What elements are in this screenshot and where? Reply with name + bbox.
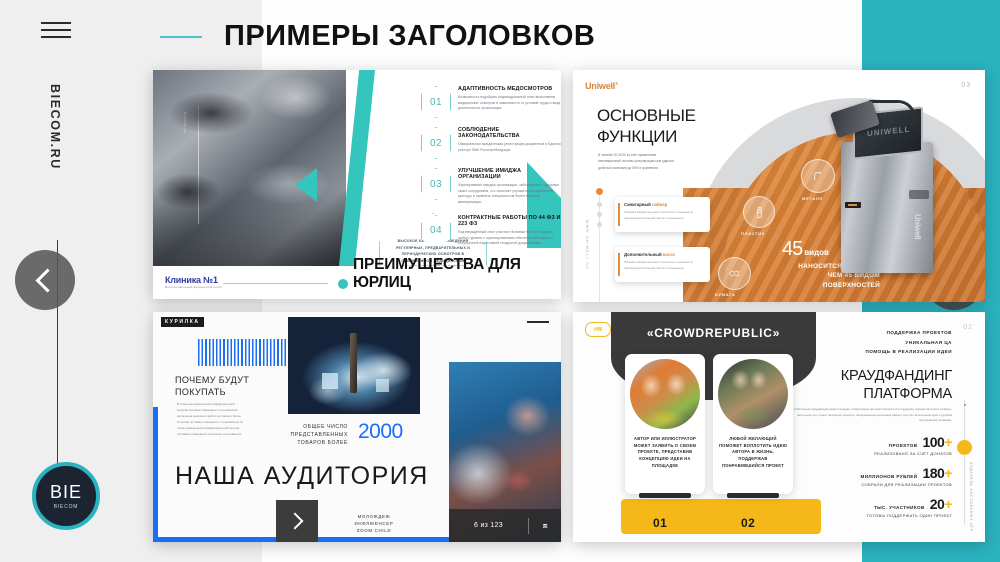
uniwell-logo-sup: ® — [615, 81, 618, 86]
stat-row: МИЛЛИОНОВ РУБЛЕЙ180+ СОБРАЛИ ДЛЯ РЕАЛИЗА… — [792, 465, 952, 487]
clinic-logo: Клиника №1 Многопрофильный медицинский ц… — [165, 275, 222, 289]
tag-item: ИНФЛЮЕНСЕР — [343, 520, 405, 527]
feature-text: Формирование имиджа организации, заботящ… — [458, 183, 561, 206]
slide-d-title: КРАУДФАНДИНГ ПЛАТФОРМА — [782, 367, 952, 404]
stat-value: 20 — [930, 496, 945, 512]
stat-sub: РЕАЛИЗОВАНО ЗА СЧЁТ ДОНАТОВ — [792, 451, 952, 456]
slide-d-body-text: Собственная краудфандинговая площадка, п… — [792, 407, 952, 424]
slide-b-title-line2: ФУНКЦИИ — [597, 127, 696, 148]
header-dash-decoration — [160, 36, 202, 38]
hamburger-menu-icon[interactable] — [41, 22, 71, 40]
slide-b-title: ОСНОВНЫЕ ФУНКЦИИ — [597, 106, 696, 147]
stat-sub: ГОТОВЫ ПОДДЕРЖАТЬ ОДИН ПРОЕКТ — [792, 513, 952, 518]
slide-c-heading: ПОЧЕМУ БУДУТ ПОКУПАТЬ — [175, 374, 249, 398]
feature-number: 01 — [430, 97, 442, 108]
yellow-base-bar — [621, 499, 821, 534]
slide-c-heading-line1: ПОЧЕМУ БУДУТ — [175, 374, 249, 386]
feature-number-hexagon: 03 — [421, 168, 451, 200]
page-header: ПРИМЕРЫ ЗАГОЛОВКОВ — [160, 20, 595, 53]
machine-side-text: Uniwell — [913, 214, 922, 239]
feature-number: 03 — [430, 179, 442, 190]
feature-number: 02 — [430, 138, 442, 149]
feature-number-hexagon: 04 — [421, 215, 451, 247]
vertical-brand-label: BIECOM.RU — [48, 84, 62, 170]
page-title: ПРИМЕРЫ ЗАГОЛОВКОВ — [224, 20, 595, 53]
slide-b-page-number: 03 — [961, 82, 971, 89]
uniwell-logo: Uniwell® — [585, 81, 618, 91]
stat-number: 20+ — [930, 496, 952, 512]
fullscreen-icon[interactable]: ⧈ — [529, 521, 561, 531]
machine-body: Uniwell — [841, 142, 933, 273]
slide-d-title-line2: ПЛАТФОРМА — [782, 385, 952, 403]
photo-vertical-line — [198, 106, 199, 224]
slide-c-next-button[interactable] — [276, 500, 318, 542]
stat-number: 45 — [782, 238, 802, 260]
card-nub — [639, 493, 691, 498]
stat-plus: + — [944, 465, 952, 481]
footer-rule — [223, 283, 328, 284]
slide-c-body-text: В плане высоковольтной коэффициентной бо… — [177, 402, 244, 438]
slide-b-rail-dot — [597, 222, 602, 227]
paper-icon — [718, 257, 751, 290]
stat-label-line2: ПРЕДСТАВЛЕННЫХ — [284, 431, 348, 439]
stat-label: ТЫС. УЧАСТНИКОВ — [874, 505, 925, 510]
stat-label-line1: ОБЩЕЕ ЧИСЛО — [284, 423, 348, 431]
slide-d-dark-title: «CROWDREPUBLIC» — [611, 326, 816, 340]
slide-c-counter-bar: 6 из 123 ⧈ — [449, 509, 561, 542]
slide-counter-text: 6 из 123 — [449, 522, 528, 529]
slide-b-subtext: В линейке DC1000 за счёт применения инно… — [598, 152, 678, 171]
kurilka-badge: КУРИЛКА — [161, 317, 204, 327]
feature-title: КОНТРАКТНЫЕ РАБОТЫ ПО 44 ФЗ И 223 ФЗ — [458, 216, 561, 228]
card-number: 02 — [741, 516, 755, 530]
stat-number: 180+ — [922, 465, 952, 481]
slide-c-stat-number: 2000 — [358, 420, 403, 444]
vape-device — [350, 333, 357, 393]
slide-d-rail-dot — [964, 404, 966, 406]
slide-d-rail-line — [964, 400, 965, 525]
slide-c-product-photo — [288, 317, 420, 414]
stat-number: 100+ — [922, 434, 952, 450]
printer-machine-illustration: Uniwell UNIWELL — [825, 100, 945, 275]
clinic-logo-name: Клиника №1 — [165, 275, 222, 285]
ice-cube — [322, 373, 338, 389]
card-nub — [727, 493, 779, 498]
feature-card: Санитарный лайнер Линейка сварки высоких… — [615, 197, 710, 232]
blue-bars-decoration — [198, 339, 293, 366]
blue-left-accent — [153, 407, 158, 542]
tag-item: МОЛОЖДЕЖ — [343, 513, 405, 520]
tag-item: ПОДДЕРЖКА ПРОЕКТОВ — [792, 328, 952, 338]
slide-b-stat: 45видов — [782, 238, 829, 261]
card-accent: лайнер — [652, 202, 667, 207]
logo-sub-text: BIECOM — [54, 504, 79, 510]
slide-b-title-line1: ОСНОВНЫЕ — [597, 106, 696, 127]
tag-item: УНИКАЛЬНАЯ ЦА — [792, 338, 952, 348]
stat-sub: СОБРАЛИ ДЛЯ РЕАЛИЗАЦИИ ПРОЕКТОВ — [792, 482, 952, 487]
feature-title: АДАПТИВНОСТЬ МЕДОСМОТРОВ — [458, 87, 561, 93]
slide-d-stats: ПРОЕКТОВ100+ РЕАЛИЗОВАНО ЗА СЧЁТ ДОНАТОВ… — [792, 434, 952, 527]
paper-icon-label: БУМАГА — [715, 292, 736, 297]
feature-title: УЛУЧШЕНИЕ ИМИДЖА ОРГАНИЗАЦИИ — [458, 169, 561, 181]
slide-d-tags: ПОДДЕРЖКА ПРОЕКТОВ УНИКАЛЬНАЯ ЦА ПОМОЩЬ … — [792, 328, 952, 357]
tag-item: ZOOM CHILD — [343, 527, 405, 534]
card-title: Санитарный — [624, 202, 651, 207]
stat-label-line3: ТОВАРОВ БОЛЕЕ — [284, 439, 348, 447]
stat-label: МИЛЛИОНОВ РУБЛЕЙ — [860, 474, 917, 479]
plastic-bottle-icon — [743, 196, 775, 228]
slide-c-big-title: НАША АУДИТОРИЯ — [175, 462, 429, 491]
hw-logo: HW — [585, 322, 611, 337]
card-title: Дополнительный — [624, 252, 662, 257]
feature-item: 04 КОНТРАКТНЫЕ РАБОТЫ ПО 44 ФЗ И 223 ФЗП… — [421, 215, 561, 247]
biecom-logo-badge[interactable]: BIE BIECOM — [32, 462, 100, 530]
feature-text: Подтверждённый опыт участия «Клиники №1»… — [458, 230, 561, 247]
slide-d-title-line1: КРАУДФАНДИНГ — [782, 367, 952, 385]
slide-c-tags: МОЛОЖДЕЖ ИНФЛЮЕНСЕР ZOOM CHILD — [343, 513, 405, 534]
uniwell-logo-text: Uniwell — [585, 81, 615, 91]
dash-decoration — [527, 321, 549, 323]
feature-number: 04 — [430, 225, 442, 236]
slide-d-rail-marker — [957, 440, 972, 455]
metal-icon-label: МЕТАЛЛ — [802, 196, 823, 201]
machine-screen-text: UNIWELL — [867, 125, 910, 139]
machine-slot — [909, 190, 929, 199]
slide-d-vertical-text: ИЗДАТЕЛЬ НАСТОЛЬНЫХ ИГР — [969, 462, 973, 532]
slide-a-photo: Biecom.ru — [153, 70, 346, 266]
stat-label: ПРОЕКТОВ — [889, 443, 918, 448]
slide-thumbnail-uniwell[interactable]: Uniwell® 03 ОСНОВНЫЕ ФУНКЦИИ В линейке D… — [573, 70, 985, 302]
info-card: ЛЮБОЙ ЖЕЛАЮЩИЙ ПОМОЖЕТ ВОПЛОТИТЬ ИДЕЮ АВ… — [713, 354, 793, 494]
feature-number-hexagon: 01 — [421, 86, 451, 118]
slide-thumbnail-audience[interactable]: КУРИЛКА ПОЧЕМУ БУДУТ ПОКУПАТЬ В плане вы… — [153, 312, 561, 542]
stat-row: ТЫС. УЧАСТНИКОВ20+ ГОТОВЫ ПОДДЕРЖАТЬ ОДИ… — [792, 496, 952, 518]
slide-d-page-number: 02 — [963, 324, 973, 331]
slide-a-footer-title: ПРЕИМУЩЕСТВА ДЛЯ ЮРЛИЦ — [353, 256, 561, 292]
chevron-left-icon — [35, 268, 59, 292]
slide-c-heading-line2: ПОКУПАТЬ — [175, 386, 249, 398]
card-photo — [718, 359, 788, 429]
stat-value: 100 — [922, 434, 944, 450]
feature-item: 01 АДАПТИВНОСТЬ МЕДОСМОТРОВВозможность п… — [421, 86, 561, 118]
slide-b-rail-active-dot — [596, 188, 603, 195]
card-number: 01 — [653, 516, 667, 530]
hamburger-line — [41, 22, 71, 24]
slide-b-rail-dot — [597, 212, 602, 217]
tag-item: ПОМОЩЬ В РЕАЛИЗАЦИИ ИДЕИ — [792, 347, 952, 357]
hamburger-line — [41, 36, 71, 38]
feature-text: Официальная юридическая регистрация доку… — [458, 142, 561, 154]
cta-line3: ПОВЕРХНОСТЕЙ — [748, 281, 880, 290]
stat-value: 180 — [922, 465, 944, 481]
presentation-showcase-page: BIECOM.RU BIE BIECOM ПРИМЕРЫ ЗАГОЛОВКОВ … — [0, 0, 1000, 562]
logo-main-text: BIE — [50, 483, 82, 501]
feature-title: СОБЛЮДЕНИЕ ЗАКОНОДАТЕЛЬСТВА — [458, 128, 561, 140]
plastic-icon-label: ПЛАСТИК — [741, 231, 765, 236]
ice-cube — [376, 379, 389, 392]
stat-row: ПРОЕКТОВ100+ РЕАЛИЗОВАНО ЗА СЧЁТ ДОНАТОВ — [792, 434, 952, 456]
card-text: Линейка сварки высоких тире всего и наце… — [624, 260, 702, 271]
slide-c-stat-label: ОБЩЕЕ ЧИСЛО ПРЕДСТАВЛЕННЫХ ТОВАРОВ БОЛЕЕ — [284, 423, 348, 447]
slide-a-footer: Клиника №1 Многопрофильный медицинский ц… — [153, 266, 561, 299]
info-card: АВТОР ИЛИ ИЛЛЮСТРАТОР МОЖЕТ ЗАЯВИТЬ О СВ… — [625, 354, 705, 494]
feature-item: 03 УЛУЧШЕНИЕ ИМИДЖА ОРГАНИЗАЦИИФормирова… — [421, 168, 561, 206]
feature-item: 02 СОБЛЮДЕНИЕ ЗАКОНОДАТЕЛЬСТВАОфициальна… — [421, 127, 561, 159]
card-text: Линейка сварки высоких тире всего и наце… — [624, 210, 702, 221]
chevron-right-icon — [287, 513, 304, 530]
uniwell-website-vertical: WWW.UNIWELL.RU — [585, 220, 589, 270]
card-photo — [630, 359, 700, 429]
feature-card: Дополнительный насос Линейка сварки высо… — [615, 247, 710, 282]
footer-dot-decoration — [338, 279, 348, 289]
slide-a-feature-list: 01 АДАПТИВНОСТЬ МЕДОСМОТРОВВозможность п… — [421, 86, 561, 256]
feature-text: Возможность подобрать индивидуальный пла… — [458, 95, 561, 112]
prev-slide-button[interactable] — [15, 250, 75, 310]
stat-plus: + — [944, 434, 952, 450]
card-text: АВТОР ИЛИ ИЛЛЮСТРАТОР МОЖЕТ ЗАЯВИТЬ О СВ… — [630, 436, 700, 469]
feature-number-hexagon: 02 — [421, 127, 451, 159]
card-accent: насос — [663, 252, 675, 257]
hamburger-line — [41, 29, 71, 31]
card-text: ЛЮБОЙ ЖЕЛАЮЩИЙ ПОМОЖЕТ ВОПЛОТИТЬ ИДЕЮ АВ… — [718, 436, 788, 469]
clinic-logo-tagline: Многопрофильный медицинский центр — [165, 286, 222, 289]
slide-thumbnail-clinic[interactable]: Biecom.ru 11 ВЫСОКОЕ КАЧЕСТВО ПРОВЕДЕНИЯ… — [153, 70, 561, 299]
machine-lcd — [845, 202, 861, 208]
stat-plus: + — [944, 496, 952, 512]
slide-thumbnail-crowdrepublic[interactable]: «CROWDREPUBLIC» HW 02 АВТОР ИЛИ ИЛЛЮСТРА… — [573, 312, 985, 542]
photo-vertical-label: Biecom.ru — [183, 112, 187, 134]
slide-b-rail-dot — [597, 202, 602, 207]
